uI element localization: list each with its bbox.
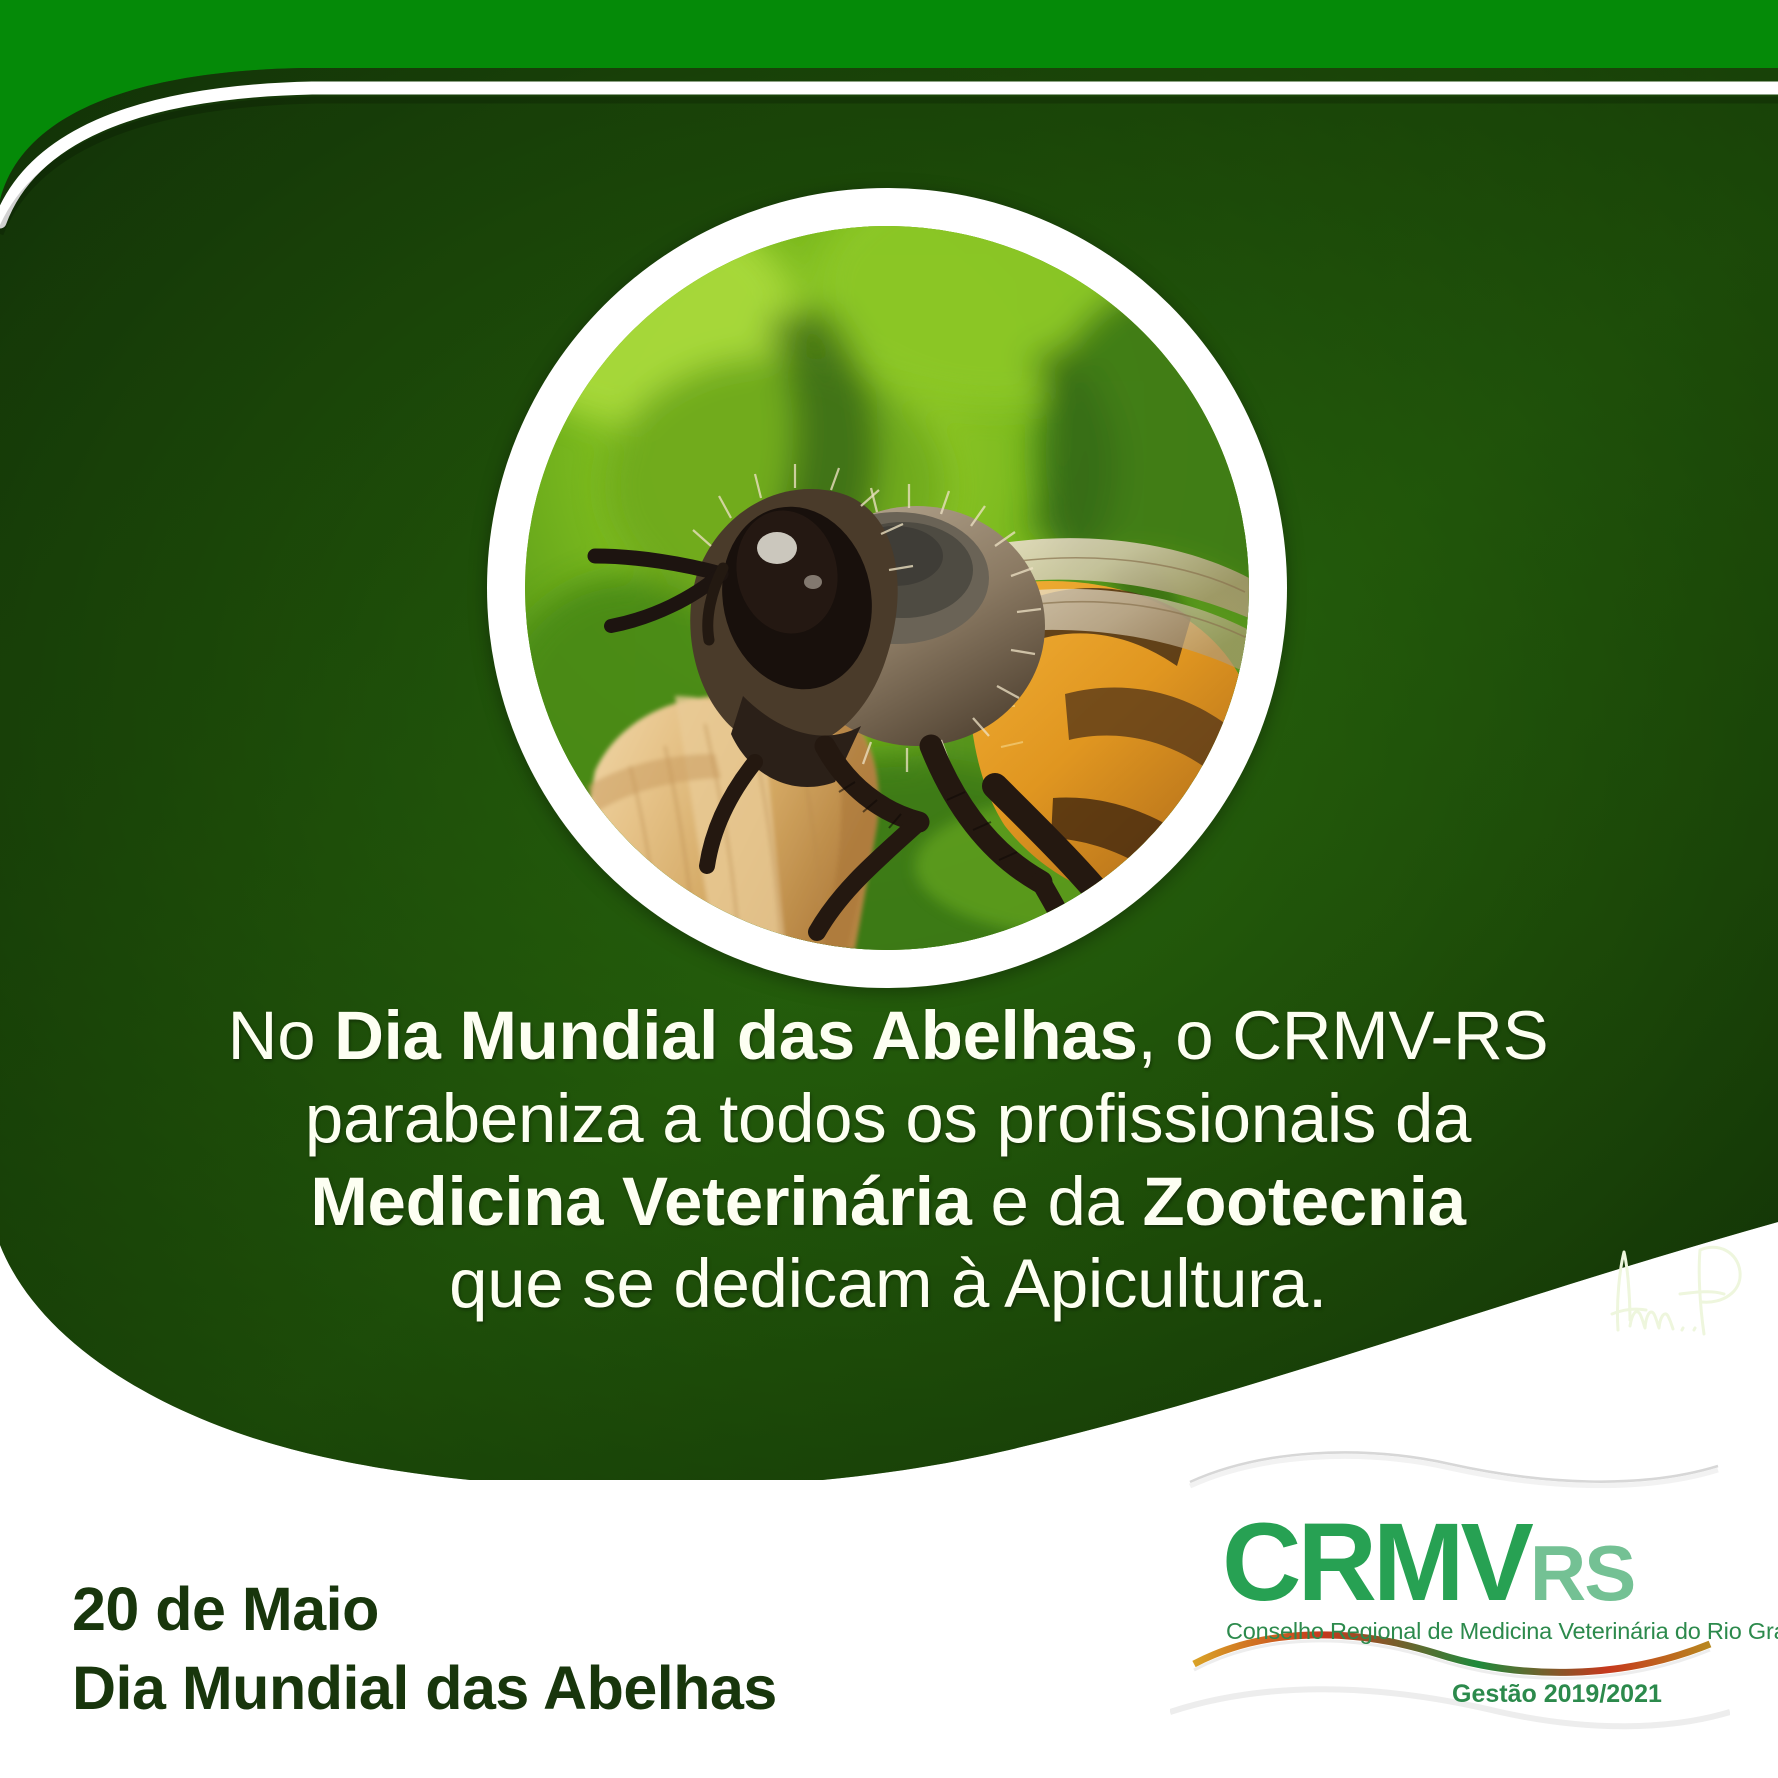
logo-wordmark: CRMVRS: [1222, 1508, 1634, 1618]
logo-subtitle: Conselho Regional de Medicina Veterinári…: [1226, 1618, 1778, 1645]
logo-gestao-label: Gestão 2019/2021: [1452, 1680, 1662, 1709]
poster-canvas: No Dia Mundial das Abelhas, o CRMV-RS pa…: [0, 0, 1778, 1778]
message-line-1-part-c: , o CRMV-RS: [1138, 997, 1549, 1074]
message-line-3-bold-c: Zootecnia: [1142, 1163, 1465, 1240]
message-line-1: No Dia Mundial das Abelhas, o CRMV-RS: [108, 995, 1668, 1078]
main-message: No Dia Mundial das Abelhas, o CRMV-RS pa…: [108, 995, 1668, 1326]
message-line-3-part-b: e da: [972, 1163, 1143, 1240]
logo-wordmark-main: CRMV: [1222, 1501, 1530, 1624]
message-line-1-part-a: No: [228, 997, 334, 1074]
message-line-1-bold: Dia Mundial das Abelhas: [334, 997, 1137, 1074]
date-block: 20 de Maio Dia Mundial das Abelhas: [72, 1570, 777, 1729]
message-line-3: Medicina Veterinária e da Zootecnia: [108, 1161, 1668, 1244]
date-line-1: 20 de Maio: [72, 1570, 777, 1649]
date-line-2: Dia Mundial das Abelhas: [72, 1649, 777, 1728]
bee-photo: [525, 226, 1249, 950]
logo-wordmark-suffix: RS: [1530, 1529, 1634, 1617]
message-line-3-bold-a: Medicina Veterinária: [310, 1163, 971, 1240]
message-line-2: parabeniza a todos os profissionais da: [108, 1078, 1668, 1161]
bee-photo-frame: [487, 188, 1287, 988]
signature-icon: [1572, 1222, 1762, 1350]
message-line-4: que se dedicam à Apicultura.: [108, 1243, 1668, 1326]
crmv-rs-logo: CRMVRS Conselho Regional de Medicina Vet…: [1170, 1430, 1730, 1730]
